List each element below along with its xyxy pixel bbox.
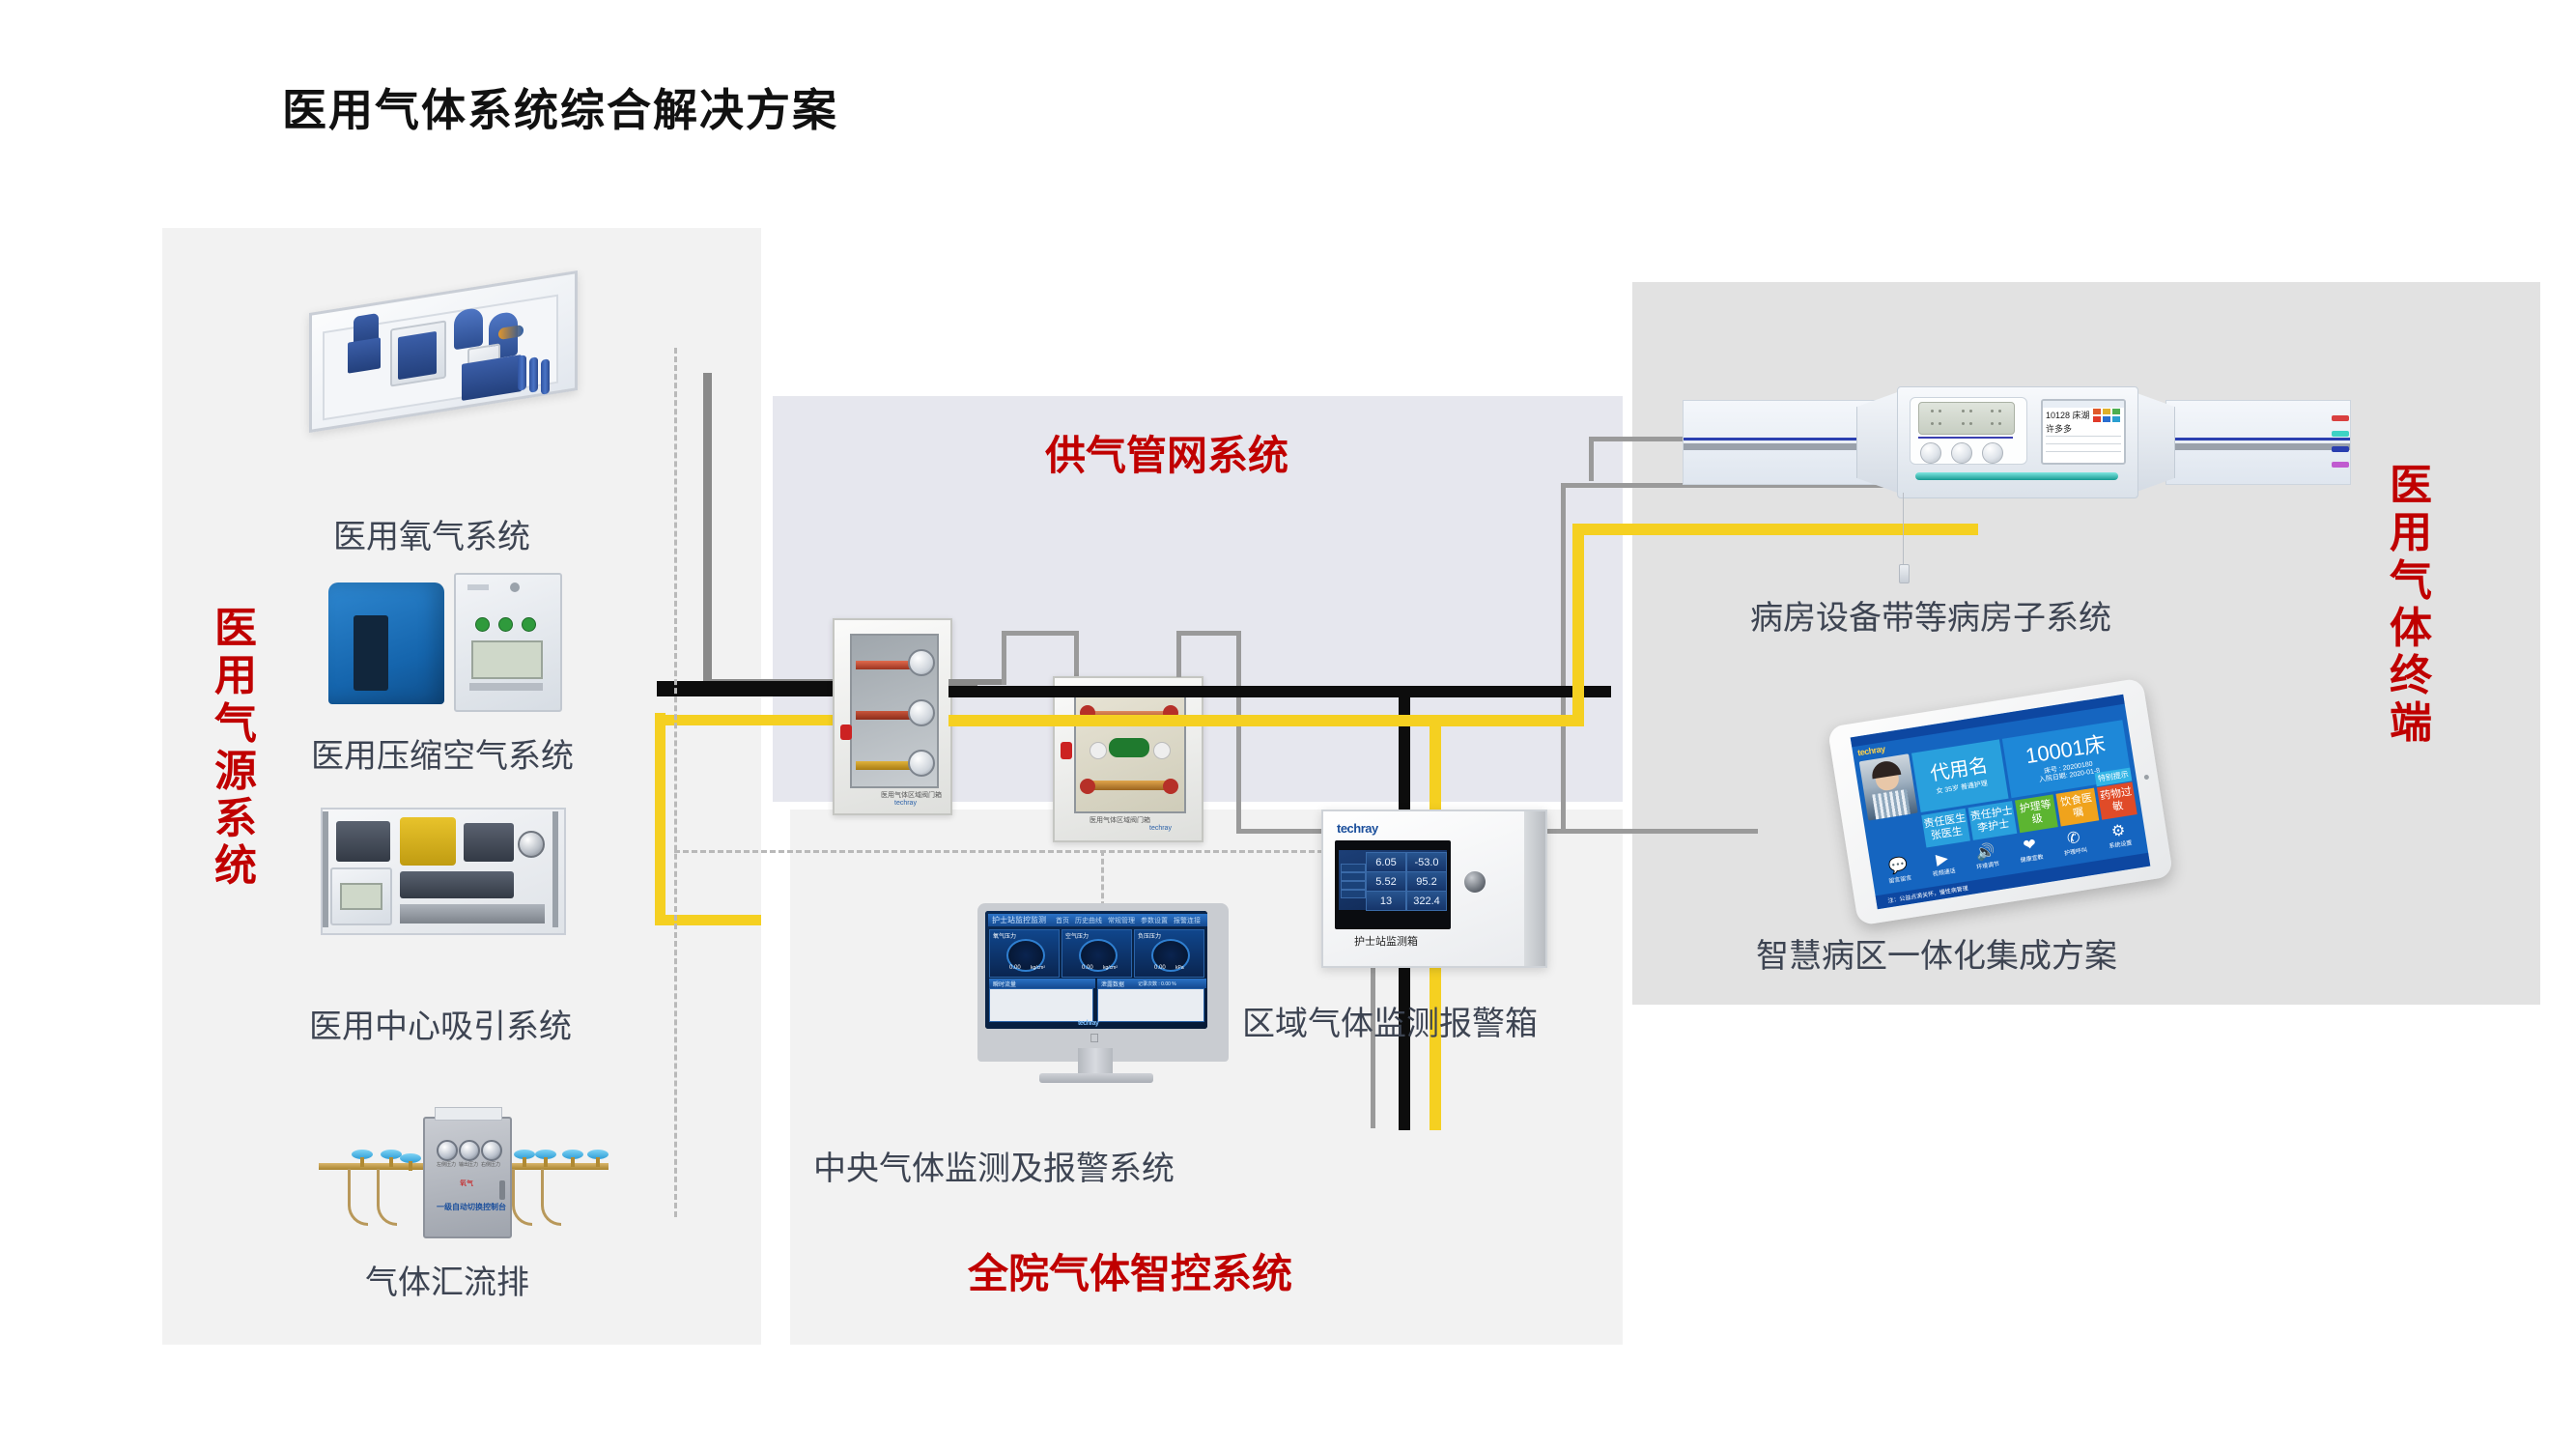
caption-gas-manifold: 气体汇流排: [365, 1256, 529, 1303]
alarm-box-lock-icon[interactable]: [1464, 871, 1486, 893]
bed-head-call-cable: [1903, 493, 1904, 566]
monitor-chart-0: [989, 988, 1093, 1022]
valve-box-emergency-indicator: [840, 724, 852, 740]
bed-head-center-module[interactable]: 10128 床湖 许多多: [1897, 386, 2138, 498]
pipe-vacuum-to-valvebox: [655, 715, 858, 725]
section-label-gas-terminal-text: 医 用 气 体 终 端: [2384, 462, 2438, 748]
pipe-oxygen-branch-riser: [1002, 632, 1006, 685]
tablet-icon-volume[interactable]: 🔊 环境调节: [1966, 842, 2007, 872]
manifold-hose-2: [377, 1169, 397, 1226]
pipe-vacuum-main-right: [977, 715, 1584, 726]
pipe-vacuum-horizontal-left: [655, 915, 761, 925]
valve-2gas-line-bottom: [1084, 781, 1173, 790]
alarm-reading-4: 13: [1366, 891, 1406, 911]
valve-2gas-brand: techray: [1149, 825, 1172, 832]
tablet-tile-diet[interactable]: 饮食医嘱: [2055, 788, 2099, 827]
art-air-compressor: [309, 565, 580, 710]
monitor-gauge-card-air: 空气压力 0.00 kg/cm²: [1062, 929, 1132, 978]
art-oxygen-container-plant: [309, 280, 580, 420]
tablet-tile-allergy[interactable]: 药物过敏: [2097, 781, 2137, 819]
manifold-valve-3[interactable]: [400, 1153, 421, 1173]
manifold-warn-label: 氧气: [460, 1179, 473, 1188]
monitor-gauge-value-0: 0.00: [1009, 965, 1021, 971]
tablet-icon-call[interactable]: ✆ 护理呼叫: [2053, 829, 2095, 859]
manifold-cabinet-label: 一级自动切换控制台: [437, 1202, 506, 1212]
manifold-valve-1[interactable]: [352, 1150, 373, 1169]
monitor-nav-1[interactable]: 历史曲线: [1075, 916, 1102, 925]
manifold-gauge-label-center: 输出压力: [459, 1161, 478, 1168]
terminal-outlet-4[interactable]: [2332, 462, 2349, 468]
valve-2gas-dot-6: [1153, 742, 1171, 759]
tablet-tile-doctor[interactable]: 责任医生 张医生: [1921, 809, 1970, 848]
manifold-hose-1: [348, 1169, 368, 1226]
art-central-monitor[interactable]: 护士站监控监测 首页 历史曲线 常规管理 参数设置 报警连接 氧气压力 0.00…: [977, 903, 1215, 1087]
alarm-reading-5: 322.4: [1406, 891, 1447, 911]
caption-central-monitor: 中央气体监测及报警系统: [813, 1142, 1175, 1189]
pipe-oxygen-riser-terminal-2: [1589, 437, 1594, 481]
manifold-gauge-label-right: 右侧压力: [481, 1161, 500, 1168]
monitor-gauge-title-1: 空气压力: [1065, 931, 1089, 940]
terminal-outlet-1[interactable]: [2332, 415, 2349, 421]
monitor-gauge-title-2: 负压压力: [1138, 931, 1161, 940]
alarm-reading-1: -53.0: [1406, 852, 1447, 872]
zone-valve-box-2gas[interactable]: 医用气体区域阀门箱 techray: [1053, 676, 1203, 842]
signal-line-to-alarm: [674, 850, 1341, 853]
monitor-nav-3[interactable]: 参数设置: [1141, 916, 1168, 925]
caption-area-alarm-box: 区域气体监测报警箱: [1242, 997, 1538, 1044]
valve-vacuum-line: [856, 761, 916, 770]
section-label-smart-control: 全院气体智控系统: [968, 1241, 1292, 1300]
alarm-reading-3: 95.2: [1406, 871, 1447, 892]
monitor-nav-0[interactable]: 首页: [1056, 916, 1069, 925]
manifold-valve-7[interactable]: [587, 1150, 609, 1169]
bed-head-knob-3[interactable]: [1982, 442, 2003, 464]
art-bed-head-unit[interactable]: 10128 床湖 许多多: [1683, 384, 2349, 510]
pipe-vacuum-stub-right: [948, 715, 977, 726]
tablet-tile-nurse[interactable]: 责任护士 李护士: [1968, 801, 2018, 840]
manifold-gauge-label-left: 左侧压力: [437, 1161, 456, 1168]
manifold-valve-5[interactable]: [535, 1150, 556, 1169]
tablet-patient-avatar: [1859, 753, 1918, 820]
bed-head-reading-light[interactable]: [1915, 472, 2118, 480]
manifold-valve-2[interactable]: [381, 1150, 402, 1169]
terminal-outlet-3[interactable]: [2332, 446, 2349, 452]
pipe-vacuum-to-terminal: [1572, 524, 1978, 535]
page-title: 医用气体系统综合解决方案: [282, 75, 838, 139]
monitor-nav-2[interactable]: 常规管理: [1108, 916, 1135, 925]
monitor-nav-4[interactable]: 报警连接: [1174, 916, 1201, 925]
monitor-gauge-card-vacuum: 负压压力 0.00 kPa: [1134, 929, 1204, 978]
art-area-alarm-box[interactable]: techray 6.05 -53.0 5.52 95.2 13 322.4 护士…: [1321, 810, 1547, 968]
valve-box-label: 医用气体区域阀门箱: [881, 790, 942, 800]
tablet-tile-care-level[interactable]: 护理等级: [2015, 794, 2058, 833]
pipe-air-main-right: [981, 686, 1611, 697]
pipe-oxygen-to-upper-box: [1074, 631, 1079, 677]
alarm-box-brand: techray: [1337, 821, 1378, 836]
caption-smart-ward: 智慧病区一体化集成方案: [1756, 929, 2117, 977]
valve-oxygen-line: [856, 661, 916, 669]
manifold-valve-4[interactable]: [514, 1150, 535, 1169]
valve-2gas-dot-4: [1163, 779, 1178, 794]
manifold-gauge-right: [481, 1140, 502, 1161]
valve-2gas-dot-3: [1080, 779, 1095, 794]
monitor-gauge-unit-0: kg/cm²: [1031, 965, 1045, 971]
valve-2gas-emergency: [1061, 742, 1072, 759]
monitor-chart-1: [1097, 988, 1204, 1022]
monitor-gauge-value-1: 0.00: [1082, 965, 1093, 971]
monitor-gauge-unit-1: kg/cm²: [1103, 965, 1118, 971]
bed-head-patient: 许多多: [2046, 422, 2072, 435]
tablet-bed-no: 10001床: [2024, 732, 2107, 769]
pipe-oxygen-riser: [703, 373, 712, 688]
alarm-reading-2: 5.52: [1366, 871, 1406, 892]
monitor-chart-title-0: 瞬时流量: [993, 980, 1016, 988]
gauge-air: [908, 699, 935, 726]
zone-valve-box-3gas[interactable]: 医用气体区域阀门箱 techray: [833, 618, 952, 815]
bed-head-knob-1[interactable]: [1920, 442, 1941, 464]
pipe-oxygen-down: [1236, 631, 1241, 834]
caption-compressed-air-system: 医用压缩空气系统: [311, 729, 574, 777]
signal-line-source-vertical: [674, 348, 677, 1217]
tablet-icon-settings[interactable]: ⚙ 系统设置: [2097, 821, 2140, 851]
tablet-icon-video[interactable]: ▶ 视频通话: [1922, 849, 1964, 879]
tablet-icon-heart[interactable]: ❤ 健康宣教: [2010, 836, 2052, 866]
bed-head-display[interactable]: 10128 床湖 许多多: [2041, 399, 2126, 465]
monitor-gauge-unit-2: kPa: [1175, 965, 1184, 971]
caption-oxygen-system: 医用氧气系统: [333, 510, 530, 557]
pipe-vacuum-riser: [655, 713, 665, 925]
monitor-gauge-card-oxygen: 氧气压力 0.00 kg/cm²: [989, 929, 1060, 978]
section-label-gas-source: 医 用 气 源 系 统: [209, 605, 263, 891]
valve-2gas-label: 医用气体区域阀门箱: [1090, 815, 1150, 825]
section-label-pipe-network: 供气管网系统: [1045, 423, 1288, 482]
imac-neck: [1078, 1048, 1113, 1075]
pipe-vacuum-riser-right: [1572, 524, 1584, 726]
manifold-gauge-center: [459, 1140, 480, 1161]
monitor-window-title: 护士站监控监测: [992, 915, 1046, 925]
manifold-valve-6[interactable]: [562, 1150, 583, 1169]
manifold-cabinet[interactable]: 左侧压力 输出压力 右侧压力 氧气 一级自动切换控制台: [423, 1117, 512, 1238]
valve-2gas-indicator: [1109, 738, 1149, 757]
bed-head-call-handset[interactable]: [1899, 564, 1910, 583]
art-gas-manifold: 左侧压力 输出压力 右侧压力 氧气 一级自动切换控制台: [319, 1101, 609, 1256]
section-label-gas-source-text: 医 用 气 源 系 统: [209, 605, 263, 891]
pipe-oxygen-upper-right-riser: [1176, 631, 1181, 677]
manifold-gauge-left: [437, 1140, 458, 1161]
imac-foot: [1039, 1073, 1153, 1083]
pipe-air-stub-right: [948, 686, 981, 697]
monitor-gauge-title-0: 氧气压力: [993, 931, 1016, 940]
art-vacuum-skid: [311, 792, 581, 947]
tablet-icon-message[interactable]: 💬 留言留言: [1878, 856, 1919, 886]
monitor-chart-title-1: 泄露数据: [1101, 980, 1124, 988]
monitor-brand: techray: [1078, 1020, 1098, 1027]
caption-vacuum-system: 医用中心吸引系统: [309, 1000, 572, 1047]
bed-head-bed-no: 10128 床湖: [2046, 409, 2090, 421]
alarm-box-caption: 护士站监测箱: [1354, 933, 1418, 949]
pipe-oxygen-branch-top: [1002, 631, 1079, 636]
valve-air-line: [856, 711, 916, 720]
caption-bed-head-unit: 病房设备带等病房子系统: [1750, 591, 2111, 639]
monitor-chart-extra-1: 记录次数 : 0.00 %: [1138, 980, 1176, 987]
section-label-gas-terminal: 医 用 气 体 终 端: [2384, 462, 2438, 748]
tablet-brand: techray: [1856, 744, 1885, 757]
apple-logo-icon: : [1088, 1032, 1101, 1045]
gauge-oxygen: [908, 649, 935, 676]
terminal-outlet-2[interactable]: [2332, 431, 2349, 437]
manifold-hose-3: [512, 1169, 532, 1226]
gauge-vacuum: [908, 750, 935, 777]
valve-box-brand: techray: [894, 800, 917, 807]
monitor-gauge-value-2: 0.00: [1154, 965, 1166, 971]
manifold-hose-4: [541, 1169, 561, 1226]
valve-2gas-dot-5: [1090, 742, 1107, 759]
bed-head-knob-2[interactable]: [1951, 442, 1972, 464]
alarm-reading-0: 6.05: [1366, 852, 1406, 872]
pipe-air-horizontal-left: [657, 686, 850, 696]
pipe-oxygen-riser-terminal: [1561, 483, 1566, 833]
pipe-oxygen-branch-a: [977, 679, 1005, 685]
pipe-oxygen-upper-right-top: [1176, 631, 1240, 636]
